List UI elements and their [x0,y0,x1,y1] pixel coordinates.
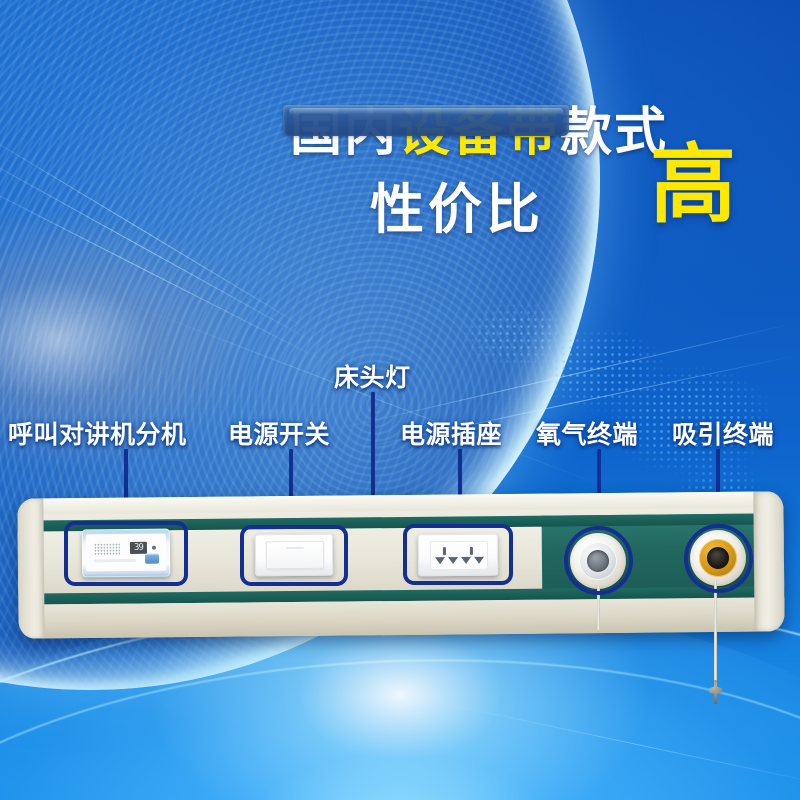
highlight-box-power-switch [240,525,348,586]
callout-label-suction-terminal: 吸引终端 [672,415,774,451]
panel-end-cap-right [753,491,784,631]
callout-label-power-socket: 电源插座 [400,415,502,451]
panel-bottom-edge [18,597,784,638]
highlight-circle-suction [684,524,753,593]
callout-label-power-switch: 电源开关 [228,415,330,451]
highlight-box-power-socket [403,524,513,585]
headline-line-2: 性价比 [370,165,544,244]
suction-pull-cord [714,580,717,688]
headline-emphasis: 高 [650,142,736,228]
panel-end-cap-left [17,498,44,638]
callout-label-intercom: 呼叫对讲机分机 [8,415,187,451]
bed-lamp-diffuser[interactable] [283,105,569,136]
callout-label-oxygen-terminal: 氧气终端 [536,415,638,451]
highlight-circle-oxygen [564,526,633,595]
highlight-box-intercom [64,521,188,586]
panel-top-edge [17,491,783,514]
promo-banner: 国内设备带款式 性价比 高 呼叫对讲机分机 电源开关 床头灯 电源插座 氧气终端… [0,0,800,800]
callout-label-bed-lamp: 床头灯 [334,358,411,394]
